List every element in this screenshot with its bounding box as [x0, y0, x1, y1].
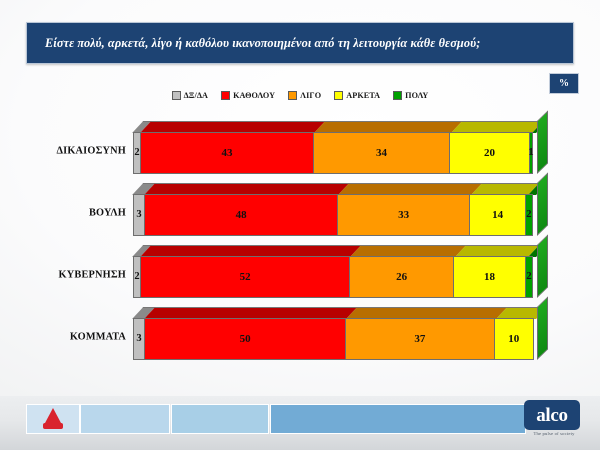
bar-segment: 18	[453, 256, 526, 298]
bar-segment: 14	[469, 194, 526, 236]
legend-item-4: ΑΡΚΕΤΑ	[334, 91, 380, 100]
alpha-logo-icon	[42, 408, 64, 430]
bar-value-label: 33	[398, 210, 409, 221]
title-banner: Είστε πολύ, αρκετά, λίγο ή καθόλου ικανο…	[26, 22, 574, 64]
bar-row: ΚΟΜΜΑΤΑ3503710	[0, 306, 600, 368]
footer-block-3	[270, 404, 526, 434]
legend-swatch-icon	[288, 91, 297, 100]
bar-segment: 2	[525, 256, 533, 298]
bar-value-label: 2	[134, 272, 139, 283]
legend-swatch-icon	[221, 91, 230, 100]
category-label: ΔΙΚΑΙΟΣΥΝΗ	[56, 146, 126, 157]
legend-item-5: ΠΟΛΥ	[393, 91, 428, 100]
stacked-bar: 24334201	[133, 132, 537, 174]
bar-side-face	[537, 234, 548, 298]
bar-front-face: 3503710	[133, 318, 537, 360]
bar-segment: 43	[140, 132, 314, 174]
bar-segment: 50	[144, 318, 346, 360]
bar-value-label: 2	[526, 272, 531, 283]
bar-segment: 1	[529, 132, 533, 174]
bar-segment: 52	[140, 256, 350, 298]
chart-plot-area: ΔΙΚΑΙΟΣΥΝΗ24334201ΒΟΥΛΗ34833142ΚΥΒΕΡΝΗΣΗ…	[0, 112, 600, 382]
bar-segment: 2	[525, 194, 533, 236]
bar-segment: 20	[449, 132, 530, 174]
bar-top-face	[133, 121, 547, 132]
footer-block-2	[171, 404, 269, 434]
footer-bar	[0, 396, 600, 450]
bar-top-face	[133, 245, 547, 256]
percent-unit-label: %	[559, 78, 569, 89]
bar-value-label: 2	[526, 210, 531, 221]
category-label: ΚΥΒΕΡΝΗΣΗ	[59, 270, 126, 281]
bar-side-face	[537, 172, 548, 236]
bar-segment: 48	[144, 194, 338, 236]
legend-swatch-icon	[334, 91, 343, 100]
bar-front-face: 25226182	[133, 256, 537, 298]
bar-row: ΒΟΥΛΗ34833142	[0, 182, 600, 244]
bar-value-label: 48	[236, 210, 247, 221]
bar-value-label: 26	[396, 272, 407, 283]
legend-label: ΛΙΓΟ	[300, 91, 321, 100]
bar-value-label: 2	[134, 148, 139, 159]
legend-label: ΑΡΚΕΤΑ	[346, 91, 380, 100]
legend-item-2: ΚΑΘΟΛΟΥ	[221, 91, 275, 100]
chart-legend: ΔΞ/ΔΑΚΑΘΟΛΟΥΛΙΓΟΑΡΚΕΤΑΠΟΛΥ	[0, 91, 600, 100]
slide-canvas: Είστε πολύ, αρκετά, λίγο ή καθόλου ικανο…	[0, 0, 600, 450]
alco-logo: alco	[524, 400, 580, 430]
legend-item-3: ΛΙΓΟ	[288, 91, 321, 100]
stacked-bar: 3503710	[133, 318, 537, 360]
footer-block-1	[80, 404, 170, 434]
bar-top-face	[133, 183, 547, 194]
bar-value-label: 50	[240, 334, 251, 345]
bar-front-face: 34833142	[133, 194, 537, 236]
legend-label: ΠΟΛΥ	[405, 91, 428, 100]
bar-value-label: 34	[376, 148, 387, 159]
bar-segment: 33	[337, 194, 470, 236]
bar-segment: 34	[313, 132, 450, 174]
bar-side-face	[537, 110, 548, 174]
bar-value-label: 10	[508, 334, 519, 345]
bar-segment: 10	[494, 318, 534, 360]
legend-label: ΚΑΘΟΛΟΥ	[233, 91, 275, 100]
bar-side-face	[537, 296, 548, 360]
bar-segment: 37	[345, 318, 494, 360]
legend-swatch-icon	[393, 91, 402, 100]
bar-front-face: 24334201	[133, 132, 537, 174]
legend-item-1: ΔΞ/ΔΑ	[172, 91, 209, 100]
bar-value-label: 52	[240, 272, 251, 283]
stacked-bar: 34833142	[133, 194, 537, 236]
bar-value-label: 3	[136, 210, 141, 221]
bar-value-label: 1	[528, 148, 533, 159]
legend-label: ΔΞ/ΔΑ	[184, 91, 209, 100]
bar-segment: 26	[349, 256, 454, 298]
category-label: ΚΟΜΜΑΤΑ	[70, 332, 126, 343]
alco-logo-text: alco	[536, 406, 568, 425]
alco-tagline: The pulse of society	[524, 431, 584, 436]
page-title: Είστε πολύ, αρκετά, λίγο ή καθόλου ικανο…	[45, 36, 480, 51]
bar-value-label: 20	[484, 148, 495, 159]
bar-value-label: 18	[484, 272, 495, 283]
legend-swatch-icon	[172, 91, 181, 100]
bar-top-face	[133, 307, 547, 318]
bar-value-label: 37	[414, 334, 425, 345]
category-label: ΒΟΥΛΗ	[89, 208, 126, 219]
bar-row: ΚΥΒΕΡΝΗΣΗ25226182	[0, 244, 600, 306]
footer-logo-block	[26, 404, 80, 434]
bar-value-label: 43	[221, 148, 232, 159]
bar-row: ΔΙΚΑΙΟΣΥΝΗ24334201	[0, 120, 600, 182]
bar-value-label: 14	[492, 210, 503, 221]
stacked-bar: 25226182	[133, 256, 537, 298]
bar-value-label: 3	[136, 334, 141, 345]
